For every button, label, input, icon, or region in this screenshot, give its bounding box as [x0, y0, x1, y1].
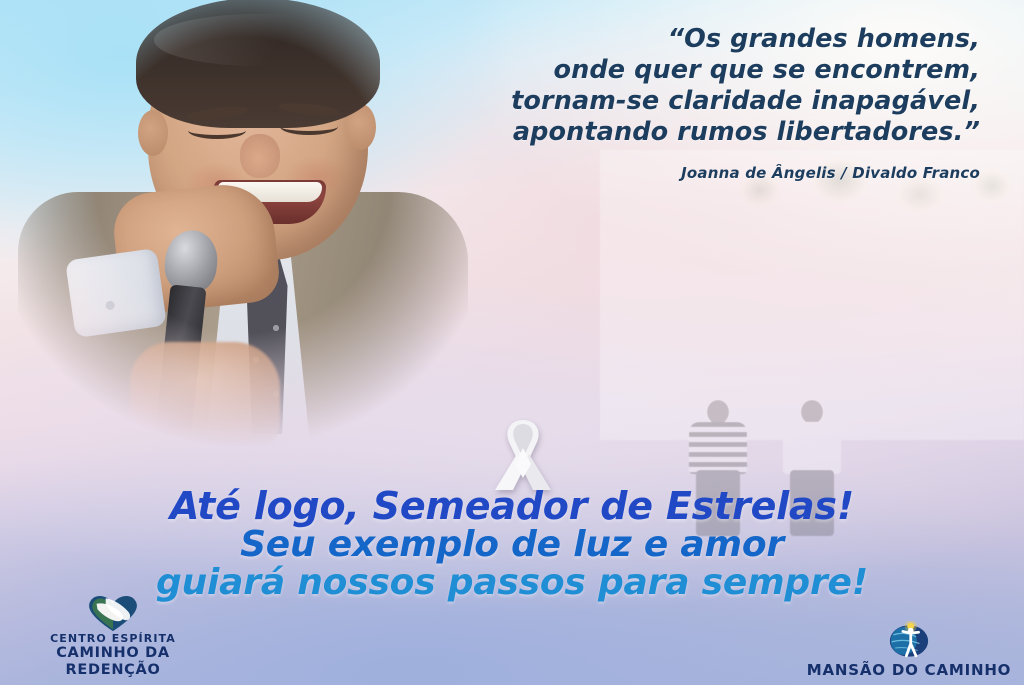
- background-photo-two-men-walking: [600, 150, 1024, 440]
- portrait-hair: [136, 0, 380, 128]
- quote-line-1: “Os grandes homens,: [420, 24, 980, 55]
- portrait-ear-left: [138, 110, 168, 156]
- headline-block: Até logo, Semeador de Estrelas! Seu exem…: [0, 486, 1024, 603]
- portrait-hand-holding-mic: [130, 342, 280, 452]
- logo-left-line-2: CAMINHO DA REDENÇÃO: [18, 645, 208, 679]
- logo-left-line-1: CENTRO ESPÍRITA: [18, 632, 208, 645]
- quote-block: “Os grandes homens, onde quer que se enc…: [420, 24, 980, 182]
- heart-hands-icon: [18, 592, 208, 632]
- quote-line-4: apontando rumos libertadores.”: [420, 117, 980, 148]
- portrait-divaldo-franco: [8, 0, 478, 452]
- logo-mansao-do-caminho: MANSÃO DO CAMINHO: [804, 621, 1014, 679]
- quote-attribution: Joanna de Ângelis / Divaldo Franco: [420, 164, 980, 182]
- logo-right-line-1: MANSÃO DO CAMINHO: [804, 661, 1014, 679]
- portrait-shirt-cuff: [65, 248, 167, 338]
- quote-line-3: tornam-se claridade inapagável,: [420, 86, 980, 117]
- headline-line-1: Até logo, Semeador de Estrelas!: [0, 486, 1024, 526]
- quote-line-2: onde quer que se encontrem,: [420, 55, 980, 86]
- memorial-poster: “Os grandes homens, onde quer que se enc…: [0, 0, 1024, 685]
- portrait-eye-left: [188, 122, 246, 139]
- portrait-eye-right: [280, 118, 338, 135]
- headline-line-2: Seu exemplo de luz e amor: [0, 526, 1024, 564]
- logo-centro-espirita: CENTRO ESPÍRITA CAMINHO DA REDENÇÃO: [18, 592, 208, 679]
- portrait-nose: [240, 134, 280, 178]
- globe-figure-torch-icon: [804, 621, 1014, 661]
